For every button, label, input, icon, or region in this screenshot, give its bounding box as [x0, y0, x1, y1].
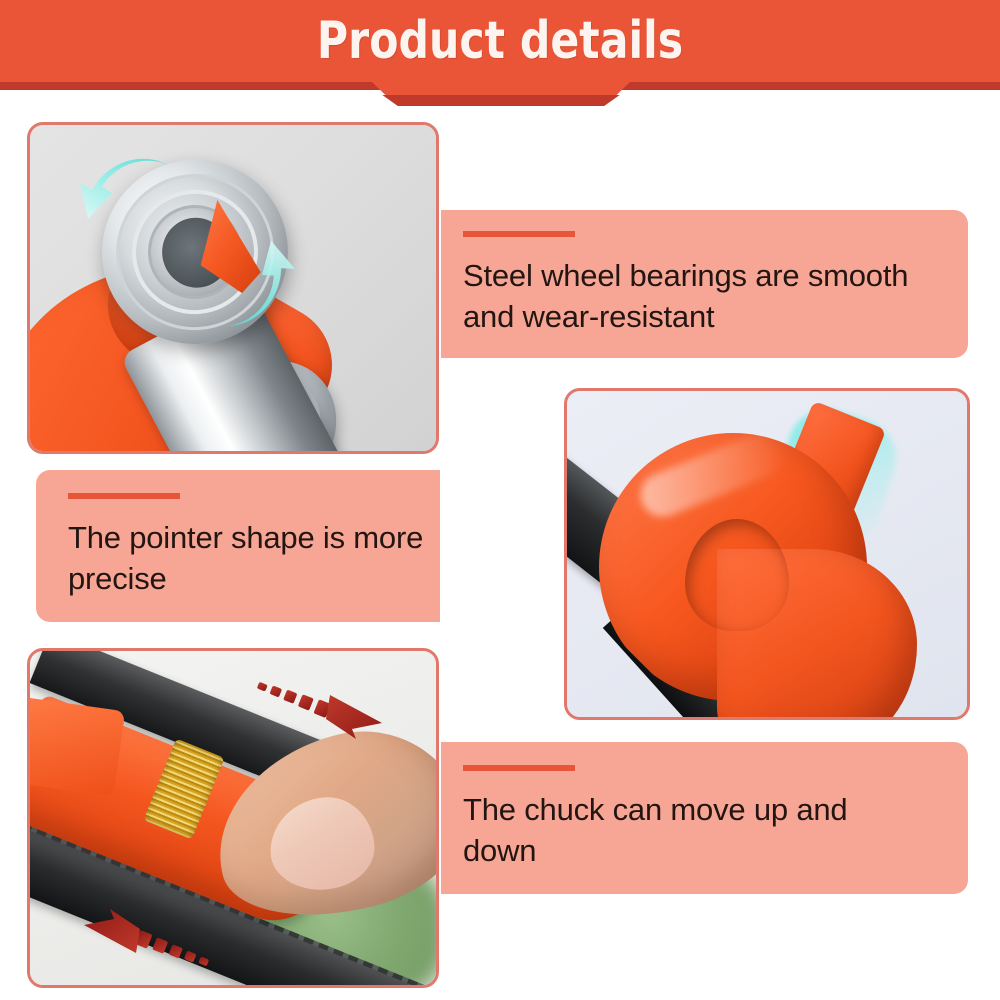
caption-pointer: The pointer shape is more precise: [36, 470, 440, 622]
header-banner: Product details: [0, 0, 1000, 106]
caption-text: The pointer shape is more precise: [68, 517, 440, 599]
caption-bearings: Steel wheel bearings are smooth and wear…: [441, 210, 968, 358]
accent-bar: [463, 765, 575, 771]
accent-bar: [68, 493, 180, 499]
photo-bearings-content: [30, 125, 436, 451]
motion-arrow-right-icon: [256, 667, 388, 739]
page-title: Product details: [90, 8, 910, 74]
feature-photo-pointer: [564, 388, 970, 720]
accent-bar: [463, 231, 575, 237]
rotation-arrow-icon: [76, 153, 172, 239]
thumbnail: [267, 794, 377, 893]
motion-arrow-left-icon: [78, 909, 210, 981]
caption-text: The chuck can move up and down: [463, 789, 923, 871]
feature-photo-chuck: [27, 648, 439, 988]
caption-chuck: The chuck can move up and down: [441, 742, 968, 894]
photo-pointer-content: [567, 391, 967, 717]
photo-chuck-content: [30, 651, 436, 985]
feature-photo-bearings: [27, 122, 439, 454]
chuck-arm: [30, 696, 125, 796]
caption-text: Steel wheel bearings are smooth and wear…: [463, 255, 923, 337]
product-details-page: Product details: [0, 0, 1000, 1000]
banner-notch-shadow: [372, 95, 630, 106]
